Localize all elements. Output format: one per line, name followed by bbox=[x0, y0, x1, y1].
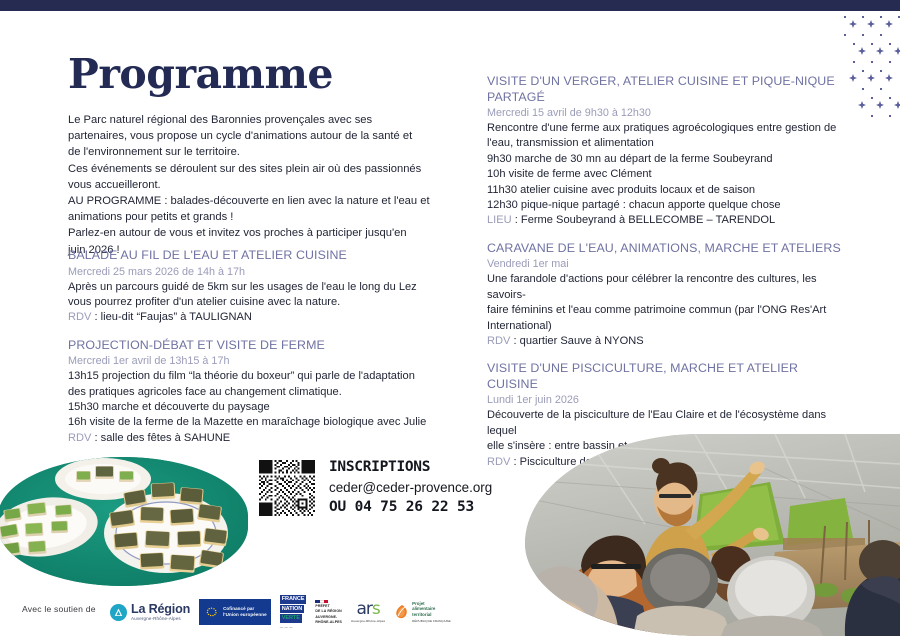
fnv-subtitle: — — — bbox=[280, 625, 293, 629]
intro-line: vous accueilleront. bbox=[68, 177, 440, 193]
logo-ars[interactable]: ars Auvergne-Rhône-Alpes bbox=[351, 595, 385, 629]
event-description-line: Une farandole d'actions pour célébrer la… bbox=[487, 272, 847, 303]
logo-republique-francaise-prefet[interactable]: PRÉFET DE LA RÉGION AUVERGNE- RHÔNE-ALPE… bbox=[315, 595, 342, 629]
french-flag-icon bbox=[315, 600, 328, 604]
footer-sponsors: Avec le soutien de La Région Auvergne-Rh… bbox=[22, 594, 452, 630]
event-description-line: 15h30 marche et découverte du paysage bbox=[68, 400, 448, 415]
event-location-label: RDV bbox=[487, 335, 510, 347]
ars-wordmark: ars bbox=[356, 602, 379, 617]
event-description: Une farandole d'actions pour célébrer la… bbox=[487, 272, 847, 334]
event-description-line: 11h30 atelier cuisine avec produits loca… bbox=[487, 183, 847, 198]
event-block: VISITE D'UN VERGER, ATELIER CUISINE ET P… bbox=[487, 74, 847, 229]
event-description-line: International) bbox=[487, 319, 847, 334]
event-location-text: : Ferme Soubeyrand à BELLECOMBE – TAREND… bbox=[512, 214, 775, 226]
event-location-label: RDV bbox=[68, 311, 91, 323]
inscriptions-heading: INSCRIPTIONS bbox=[329, 459, 492, 476]
event-location-text: : quartier Sauve à NYONS bbox=[510, 335, 643, 347]
pat-leaf-icon bbox=[394, 604, 410, 620]
event-location-label: LIEU bbox=[487, 214, 512, 226]
four-point-star-dot-grid-icon bbox=[838, 13, 900, 125]
event-description-line: l'eau, transmission et alimentation bbox=[487, 136, 847, 151]
fnv-line1: FRANCE bbox=[280, 595, 307, 603]
fnv-line2: NATION bbox=[280, 605, 304, 613]
intro-line: AU PROGRAMME : balades-découverte en lie… bbox=[68, 193, 440, 209]
event-location-text: : salle des fêtes à SAHUNE bbox=[91, 432, 230, 444]
event-description-line: 10h visite de ferme avec Clément bbox=[487, 167, 847, 182]
rf-line1: PRÉFET bbox=[315, 604, 329, 608]
ars-mark-s: s bbox=[372, 599, 380, 619]
event-location: LIEU : Ferme Soubeyrand à BELLECOMBE – T… bbox=[487, 213, 847, 228]
inscriptions-block: INSCRIPTIONS ceder@ceder-provence.org OU… bbox=[259, 459, 509, 533]
intro-paragraph: Le Parc naturel régional des Baronnies p… bbox=[68, 112, 440, 258]
la-region-subtitle: Auvergne-Rhône-Alpes bbox=[131, 617, 190, 622]
logo-union-europeenne[interactable]: Cofinancé par l'Union européenne bbox=[199, 599, 271, 625]
la-region-mark-icon bbox=[110, 604, 127, 621]
event-title: CARAVANE DE L'EAU, ANIMATIONS, MARCHE ET… bbox=[487, 241, 847, 257]
event-description-line: Rencontre d'une ferme aux pratiques agro… bbox=[487, 121, 847, 136]
inscriptions-text: INSCRIPTIONS ceder@ceder-provence.org OU… bbox=[329, 459, 492, 516]
logo-projet-alimentaire-territorial[interactable]: Projet alimentaire territorial RÉPUBLIQU… bbox=[394, 595, 451, 629]
intro-line: Parlez-en autour de vous et invitez vos … bbox=[68, 225, 440, 241]
intro-line: Le Parc naturel régional des Baronnies p… bbox=[68, 112, 440, 128]
event-description-line: 9h30 marche de 30 mn au départ de la fer… bbox=[487, 152, 847, 167]
event-description-line: des pratiques agricoles face au changeme… bbox=[68, 385, 448, 400]
page-title: Programme bbox=[68, 54, 333, 95]
event-location: RDV : salle des fêtes à SAHUNE bbox=[68, 431, 448, 446]
event-block: PROJECTION-DÉBAT ET VISITE DE FERMEMercr… bbox=[68, 338, 448, 447]
inscriptions-email[interactable]: ceder@ceder-provence.org bbox=[329, 478, 492, 497]
pat-text: Projet alimentaire territorial RÉPUBLIQU… bbox=[412, 601, 451, 623]
la-region-text: La Région Auvergne-Rhône-Alpes bbox=[131, 603, 190, 622]
poster-page: Programme Le Parc naturel régional des B… bbox=[0, 0, 900, 636]
intro-line: partenaires, vous propose un cycle d'ani… bbox=[68, 128, 440, 144]
sponsor-logo-row: La Région Auvergne-Rhône-Alpes bbox=[110, 594, 451, 630]
event-block: CARAVANE DE L'EAU, ANIMATIONS, MARCHE ET… bbox=[487, 241, 847, 350]
event-description-line: Après un parcours guidé de 5km sur les u… bbox=[68, 280, 448, 295]
rf-line3: AUVERGNE- bbox=[315, 615, 337, 619]
intro-line: animations pour petits et grands ! bbox=[68, 209, 440, 225]
event-description-line: 16h visite de la ferme de la Mazette en … bbox=[68, 415, 448, 430]
logo-la-region[interactable]: La Région Auvergne-Rhône-Alpes bbox=[110, 595, 190, 629]
rf-line2: DE LA RÉGION bbox=[315, 609, 341, 613]
top-navy-bar bbox=[0, 0, 900, 11]
event-description: 13h15 projection du film “la théorie du … bbox=[68, 369, 448, 431]
event-description-line: faire féminins et l'eau comme patrimoine… bbox=[487, 303, 847, 318]
event-date: Lundi 1er juin 2026 bbox=[487, 393, 847, 407]
events-column-left: BALADE AU FIL DE L'EAU ET ATELIER CUISIN… bbox=[68, 248, 448, 446]
ars-mark-a: ar bbox=[356, 599, 371, 619]
event-location-text: : lieu-dit “Faujas” à TAULIGNAN bbox=[91, 311, 252, 323]
event-title: PROJECTION-DÉBAT ET VISITE DE FERME bbox=[68, 338, 448, 354]
event-location: RDV : quartier Sauve à NYONS bbox=[487, 334, 847, 349]
event-date: Mercredi 25 mars 2026 de 14h à 17h bbox=[68, 265, 448, 279]
logo-france-nation-verte[interactable]: FRANCE NATION VERTE — — — bbox=[280, 595, 307, 629]
qr-code-icon[interactable] bbox=[259, 460, 315, 516]
eu-line2: l'Union européenne bbox=[223, 612, 267, 618]
pat-subtitle: RÉPUBLIQUE FRANÇAISE bbox=[412, 619, 451, 623]
eu-flag-icon bbox=[203, 606, 220, 618]
event-description: Rencontre d'une ferme aux pratiques agro… bbox=[487, 121, 847, 213]
event-location: RDV : lieu-dit “Faujas” à TAULIGNAN bbox=[68, 310, 448, 325]
ars-subtitle: Auvergne-Rhône-Alpes bbox=[351, 619, 385, 623]
event-title: BALADE AU FIL DE L'EAU ET ATELIER CUISIN… bbox=[68, 248, 448, 264]
event-block: BALADE AU FIL DE L'EAU ET ATELIER CUISIN… bbox=[68, 248, 448, 326]
inscriptions-phone[interactable]: OU 04 75 26 22 53 bbox=[329, 498, 492, 516]
photo-toasts-plates bbox=[0, 457, 248, 586]
rf-line4: RHÔNE-ALPES bbox=[315, 620, 342, 624]
event-date: Mercredi 1er avril de 13h15 à 17h bbox=[68, 354, 448, 368]
photo-visite-serre bbox=[525, 434, 900, 636]
event-description-line: 13h15 projection du film “la théorie du … bbox=[68, 369, 448, 384]
intro-line: Ces événements se déroulent sur des site… bbox=[68, 161, 440, 177]
event-description-line: 12h30 pique-nique partagé : chacun appor… bbox=[487, 198, 847, 213]
event-title: VISITE D'UN VERGER, ATELIER CUISINE ET P… bbox=[487, 74, 847, 105]
la-region-title: La Région bbox=[131, 603, 190, 616]
events-column-right: VISITE D'UN VERGER, ATELIER CUISINE ET P… bbox=[487, 74, 847, 470]
fnv-line3: VERTE bbox=[280, 614, 302, 622]
event-date: Mercredi 15 avril de 9h30 à 12h30 bbox=[487, 106, 847, 120]
eu-text: Cofinancé par l'Union européenne bbox=[223, 606, 267, 618]
footer-support-label: Avec le soutien de bbox=[22, 604, 96, 614]
pat-line3: territorial bbox=[412, 612, 451, 617]
event-title: VISITE D'UNE PISCICULTURE, MARCHE ET ATE… bbox=[487, 361, 847, 392]
event-description: Après un parcours guidé de 5km sur les u… bbox=[68, 280, 448, 311]
event-location-label: RDV bbox=[68, 432, 91, 444]
event-date: Vendredi 1er mai bbox=[487, 257, 847, 271]
event-description-line: vous pourrez profiter d'un atelier cuisi… bbox=[68, 295, 448, 310]
intro-line: de l'environnement sur le territoire. bbox=[68, 144, 440, 160]
